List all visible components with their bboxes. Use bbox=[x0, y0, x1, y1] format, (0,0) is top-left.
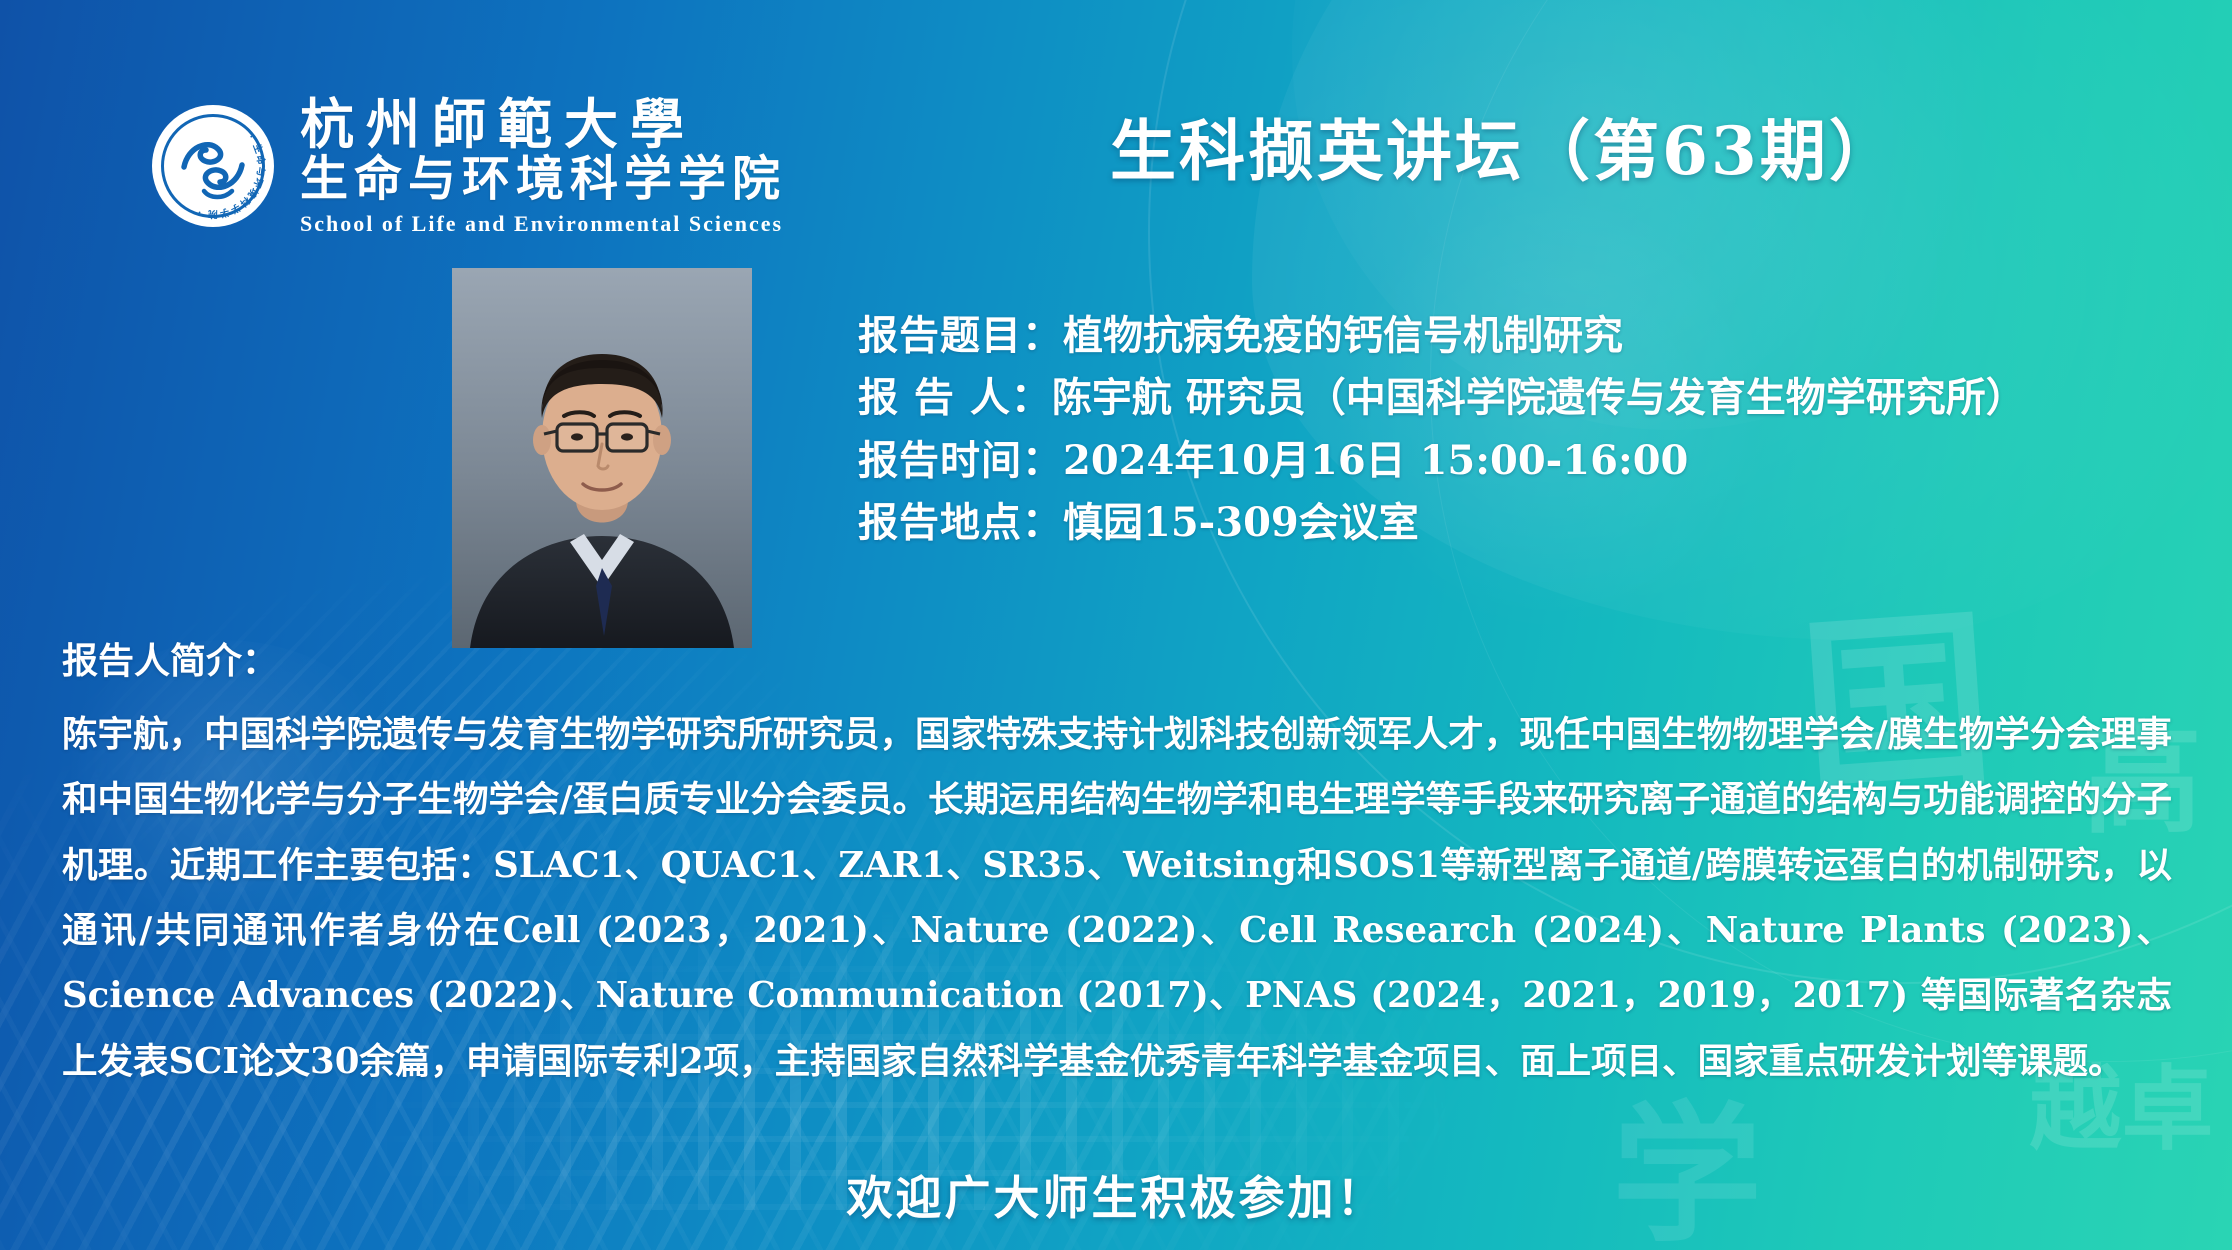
info-row-time: 报告时间：2024年10月16日 15:00-16:00 bbox=[858, 430, 2198, 492]
place-value: 慎园15-309会议室 bbox=[1063, 499, 1419, 546]
crest-emblem bbox=[174, 127, 252, 205]
bio-body: 陈宇航，中国科学院遗传与发育生物学研究所研究员，国家特殊支持计划科技创新领军人才… bbox=[62, 702, 2172, 1094]
page-title: 生科撷英讲坛（第63期） bbox=[1110, 98, 1898, 194]
poster-footer: 欢迎广大师生积极参加！ bbox=[0, 1162, 2232, 1228]
speaker-biography: 报告人简介： 陈宇航，中国科学院遗传与发育生物学研究所研究员，国家特殊支持计划科… bbox=[62, 632, 2172, 1094]
info-row-speaker: 报 告 人：陈宇航 研究员（中国科学院遗传与发育生物学研究所） bbox=[858, 367, 2198, 429]
university-crest-logo: · 生命与环境科学学院 · bbox=[152, 105, 274, 227]
svg-text:· 生命与环境科学学院 ·: · 生命与环境科学学院 · bbox=[195, 133, 267, 221]
university-brand: · 生命与环境科学学院 · 杭州師範大學 生命与环境科学学院 School of… bbox=[152, 96, 786, 237]
welcome-message: 欢迎广大师生积极参加！ bbox=[847, 1162, 1386, 1228]
college-name: 生命与环境科学学院 bbox=[300, 153, 786, 207]
time-label: 报告时间： bbox=[858, 437, 1063, 484]
speaker-value: 陈宇航 研究员（中国科学院遗传与发育生物学研究所） bbox=[1052, 374, 2026, 421]
brand-names: 杭州師範大學 生命与环境科学学院 School of Life and Envi… bbox=[300, 96, 786, 237]
college-name-english: School of Life and Environmental Science… bbox=[300, 211, 786, 237]
seminar-poster: 国 高 学 卓越 · 生命与环境科学学院 · bbox=[0, 0, 2232, 1250]
speaker-portrait bbox=[452, 268, 752, 648]
bio-heading: 报告人简介： bbox=[62, 632, 2172, 684]
time-value: 2024年10月16日 15:00-16:00 bbox=[1063, 437, 1688, 484]
poster-header: · 生命与环境科学学院 · 杭州師範大學 生命与环境科学学院 School of… bbox=[0, 0, 2232, 250]
info-row-topic: 报告题目：植物抗病免疫的钙信号机制研究 bbox=[858, 305, 2198, 367]
topic-label: 报告题目： bbox=[858, 312, 1063, 359]
seminar-info: 报告题目：植物抗病免疫的钙信号机制研究 报 告 人：陈宇航 研究员（中国科学院遗… bbox=[858, 305, 2198, 555]
place-label: 报告地点： bbox=[858, 499, 1063, 546]
speaker-label: 报 告 人： bbox=[858, 374, 1052, 421]
university-name: 杭州師範大學 bbox=[300, 96, 786, 153]
info-row-place: 报告地点：慎园15-309会议室 bbox=[858, 492, 2198, 554]
topic-value: 植物抗病免疫的钙信号机制研究 bbox=[1063, 312, 1623, 359]
